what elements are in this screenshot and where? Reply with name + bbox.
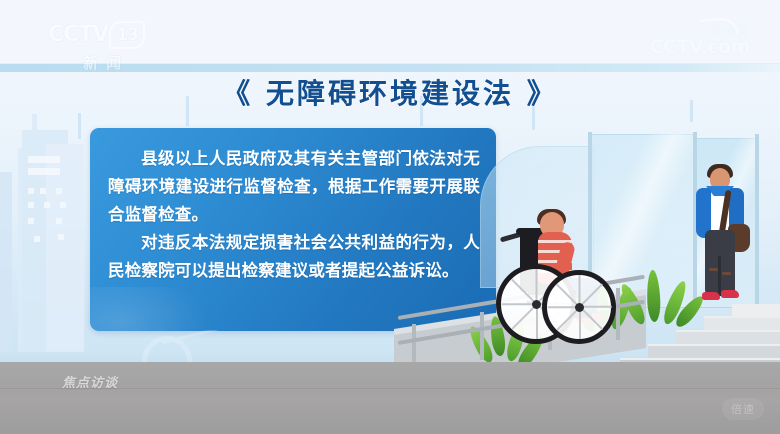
pedestrian-shoe: [702, 292, 720, 300]
pedestrian-knee-detail: [709, 268, 718, 271]
wheelchair-user-figure: [494, 212, 624, 362]
law-excerpt-body: 县级以上人民政府及其有关主管部门依法对无障碍环境建设进行监督检查，根据工作需要开…: [108, 145, 480, 285]
cctv-dot-com-watermark: 央视网 CCTV.com: [650, 26, 750, 57]
pedestrian-shoe: [721, 290, 739, 298]
broadcast-screenshot: CCTV13 新闻 央视网 CCTV.com 《 无障碍环境建设法 》 县级以上…: [0, 0, 780, 434]
pedestrian-leg-split: [718, 256, 721, 296]
wheelchair-front-wheel: [542, 270, 616, 344]
law-title: 《 无障碍环境建设法 》: [0, 72, 780, 112]
program-title-watermark: 焦点访谈: [62, 372, 118, 391]
standing-pedestrian-figure: [688, 164, 756, 316]
handrail-post: [480, 312, 484, 360]
watermark-domain-label: CCTV.com: [650, 38, 750, 57]
accessibility-illustration: [470, 120, 780, 370]
law-excerpt-card: 县级以上人民政府及其有关主管部门依法对无障碍环境建设进行监督检查，根据工作需要开…: [90, 128, 496, 331]
logo-channel-number: 13: [109, 21, 145, 49]
pedestrian-knee-detail: [722, 272, 731, 275]
card-glow-decor: [90, 287, 210, 331]
playback-speed-button[interactable]: 倍速: [722, 398, 764, 420]
law-paragraph-1: 县级以上人民政府及其有关主管部门依法对无障碍环境建设进行监督检查，根据工作需要开…: [108, 145, 480, 229]
decor-tick: [78, 113, 81, 139]
cctv13-channel-logo: CCTV13 新闻: [48, 22, 158, 68]
logo-subtitle-news: 新闻: [48, 52, 158, 73]
law-paragraph-2: 对违反本法规定损害社会公共利益的行为，人民检察院可以提出检察建议或者提起公益诉讼…: [108, 229, 480, 285]
logo-text-cctv: CCTV: [48, 22, 108, 47]
